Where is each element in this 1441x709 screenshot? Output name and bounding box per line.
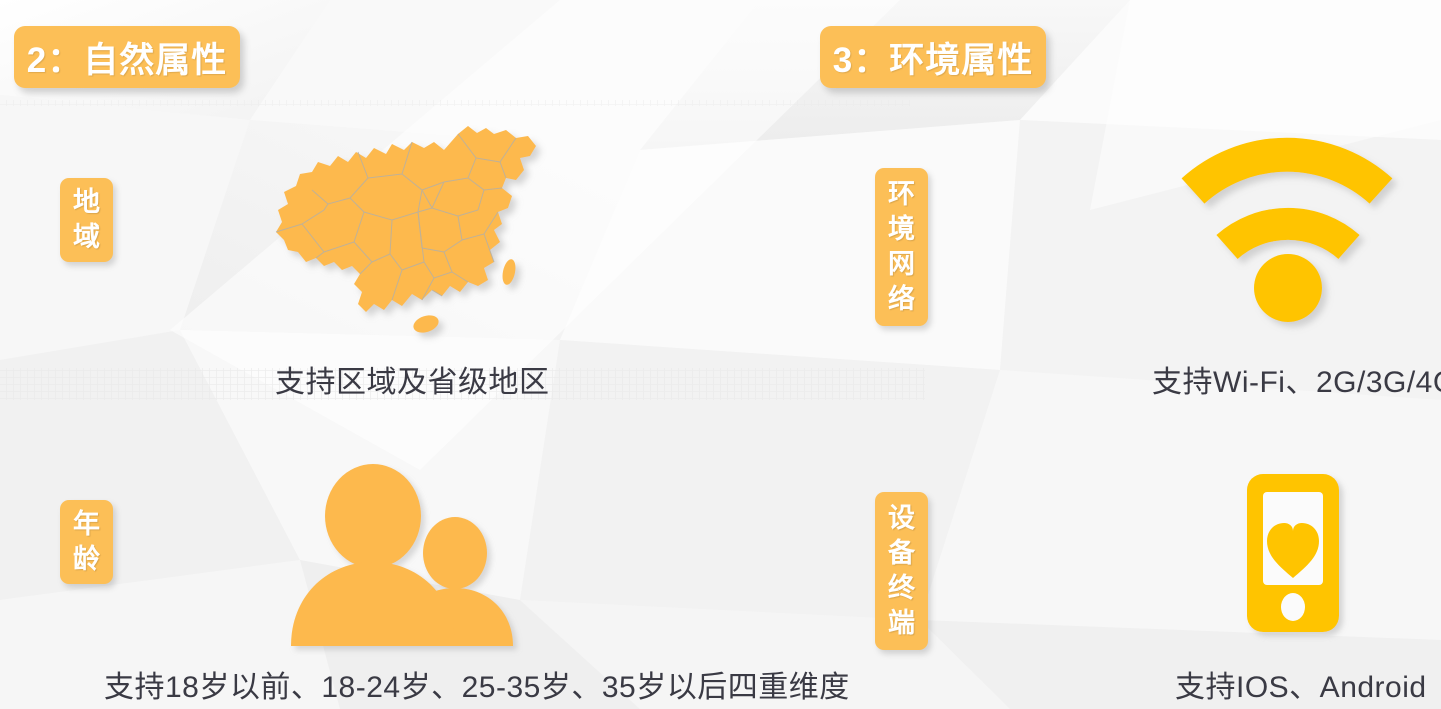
slide-canvas: 2：自然属性 3：环境属性 地 域 年 龄 环 境 网 络 设 备 终 端 [0,0,1441,709]
mobile-phone-heart-icon [1241,470,1359,640]
label-badge-network: 环 境 网 络 [875,168,928,326]
label-badge-network-char-2: 境 [888,212,915,247]
label-badge-device-char-3: 终 [888,571,915,606]
caption-age: 支持18岁以前、18-24岁、25-35岁、35岁以后四重维度 [104,662,850,706]
section-header-natural-attributes: 2：自然属性 [14,26,240,88]
background-polygons [0,0,1441,709]
label-badge-network-char-1: 环 [888,177,915,212]
caption-device: 支持IOS、Android [1175,662,1427,706]
people-icon [283,466,539,646]
background-base [0,0,1441,709]
label-badge-network-char-3: 网 [888,247,915,282]
label-badge-region-char-1: 地 [73,185,100,220]
caption-region: 支持区域及省级地区 [275,357,550,401]
label-badge-device-char-1: 设 [888,501,915,536]
wifi-icon [1183,143,1407,328]
label-badge-device-char-4: 端 [888,606,915,641]
label-badge-age: 年 龄 [60,500,113,584]
caption-network: 支持Wi-Fi、2G/3G/4G [1152,357,1441,401]
label-badge-age-char-2: 龄 [73,542,100,577]
label-badge-network-char-4: 络 [888,282,915,317]
label-badge-region-char-2: 域 [73,220,100,255]
label-badge-region: 地 域 [60,178,113,262]
label-badge-age-char-1: 年 [73,507,100,542]
label-badge-device-char-2: 备 [888,536,915,571]
label-badge-device: 设 备 终 端 [875,492,928,650]
china-map-icon [272,112,554,344]
section-header-environment-attributes: 3：环境属性 [820,26,1046,88]
